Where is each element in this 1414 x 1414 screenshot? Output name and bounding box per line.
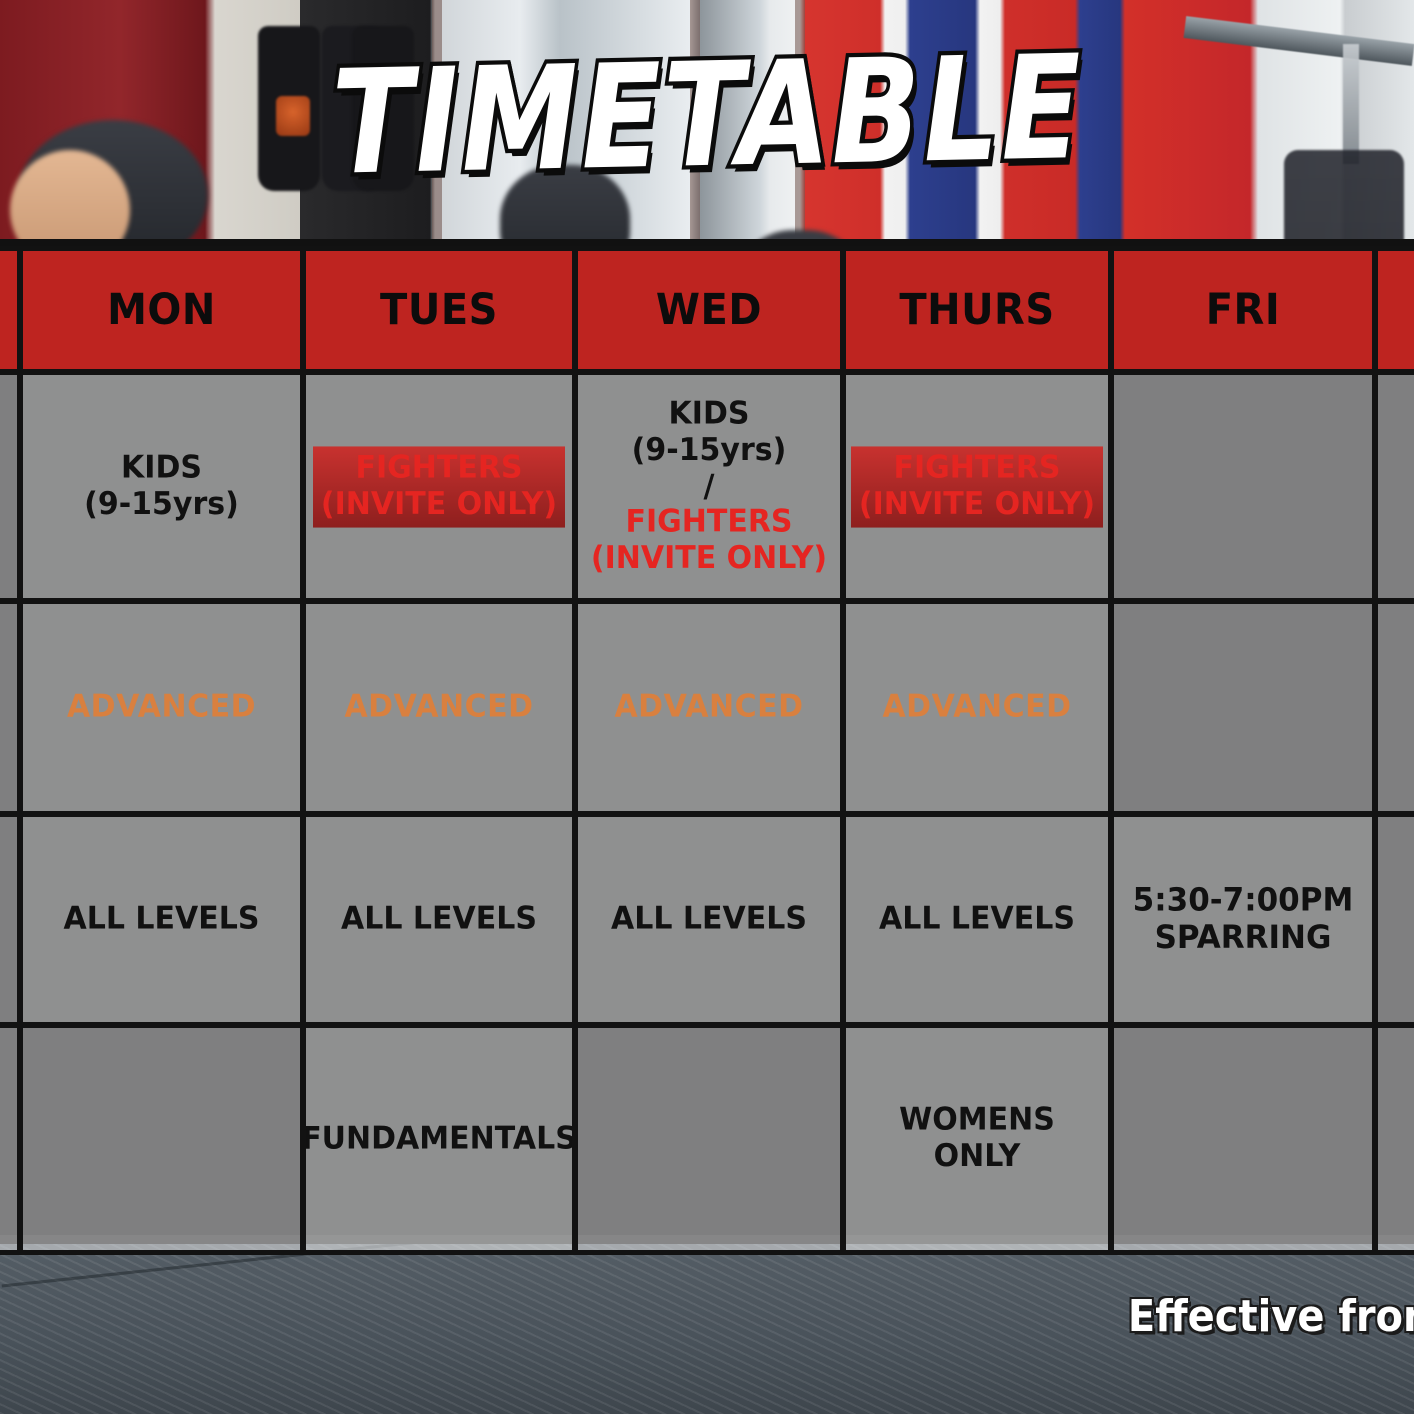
timetable-cell-thurs-row-fundamentals: WOMENS ONLY	[841, 1023, 1113, 1255]
class-label: ALL LEVELS	[603, 897, 815, 942]
class-label: FIGHTERS(INVITE ONLY)	[313, 446, 565, 527]
day-label: TUES	[380, 286, 498, 335]
timetable-cell-wed-row-advanced: ADVANCED	[573, 599, 845, 816]
window-mullion	[690, 0, 700, 250]
class-label: ADVANCED	[59, 685, 264, 730]
class-label-line: /	[591, 468, 827, 504]
class-label: WOMENS ONLY	[846, 1099, 1108, 1180]
class-label-line: KIDS	[84, 450, 239, 486]
class-label-line: ALL LEVELS	[64, 901, 260, 937]
timetable-cell-mon-row-all-levels: ALL LEVELS	[18, 812, 305, 1027]
class-label-line: 5:30-7:00PM	[1133, 882, 1354, 919]
timetable-cell-wed-row-fundamentals	[573, 1023, 845, 1255]
timetable-cell-fri-row-advanced	[1109, 599, 1377, 816]
class-label-line: FIGHTERS	[591, 505, 827, 541]
class-label-line: ADVANCED	[67, 689, 256, 725]
timetable-cell-tues-row-fundamentals: FUNDAMENTALS	[301, 1023, 577, 1255]
class-label-line: ADVANCED	[882, 689, 1071, 725]
heavy-bag-chain	[1343, 44, 1359, 164]
class-label-line: ALL LEVELS	[879, 901, 1075, 937]
day-label: THURS	[899, 286, 1054, 335]
timetable-cell-thurs-row-kids-fighters: FIGHTERS(INVITE ONLY)	[841, 370, 1113, 603]
timetable-cell-tues-row-all-levels: ALL LEVELS	[301, 812, 577, 1027]
effective-from-note: Effective from Ju	[1128, 1292, 1414, 1342]
timetable-cell-fri-row-all-levels: 5:30-7:00PMSPARRING	[1109, 812, 1377, 1027]
class-label: ADVANCED	[874, 685, 1079, 730]
hanging-shirt	[352, 26, 414, 191]
class-label: KIDS(9-15yrs)	[76, 446, 247, 527]
class-label: ADVANCED	[606, 685, 811, 730]
class-label-line: FUNDAMENTALS	[301, 1121, 577, 1157]
class-label: FIGHTERS(INVITE ONLY)	[851, 446, 1103, 527]
class-label-line: (9-15yrs)	[591, 432, 827, 468]
window-mullion	[432, 0, 442, 250]
class-label: ALL LEVELS	[56, 897, 268, 942]
timetable-cell-thurs-row-all-levels: ALL LEVELS	[841, 812, 1113, 1027]
class-label-line: ADVANCED	[344, 689, 533, 725]
timetable-cell-fri-row-fundamentals	[1109, 1023, 1377, 1255]
window-mullion	[795, 0, 805, 250]
timetable-header-sat	[1373, 246, 1414, 374]
class-label-line: (INVITE ONLY)	[321, 487, 557, 523]
class-label: ALL LEVELS	[871, 897, 1083, 942]
class-label-line: ALL LEVELS	[341, 901, 537, 937]
class-label-line: SPARRING	[1133, 920, 1354, 957]
shirt-logo	[276, 96, 310, 136]
class-label-line: ADVANCED	[614, 689, 803, 725]
timetable-cell-mon-row-kids-fighters: KIDS(9-15yrs)	[18, 370, 305, 603]
timetable-cell-wed-row-kids-fighters: KIDS(9-15yrs)/FIGHTERS(INVITE ONLY)	[573, 370, 845, 603]
class-label-line: (INVITE ONLY)	[859, 487, 1095, 523]
timetable-cell-sat-row-fundamentals	[1373, 1023, 1414, 1255]
timetable-header-thurs: THURS	[841, 246, 1113, 374]
timetable-header-wed: WED	[573, 246, 845, 374]
timetable-cell-thurs-row-advanced: ADVANCED	[841, 599, 1113, 816]
class-label: KIDS(9-15yrs)/FIGHTERS(INVITE ONLY)	[583, 392, 835, 581]
timetable-cell-fri-row-kids-fighters	[1109, 370, 1377, 603]
timetable-header-fri: FRI	[1109, 246, 1377, 374]
class-label-line: ALL LEVELS	[611, 901, 807, 937]
class-label-line: (9-15yrs)	[84, 487, 239, 523]
timetable-cell-mon-row-advanced: ADVANCED	[18, 599, 305, 816]
day-label: MON	[107, 286, 216, 335]
class-label: ADVANCED	[336, 685, 541, 730]
timetable-cell-tues-row-advanced: ADVANCED	[301, 599, 577, 816]
class-label-line: FIGHTERS	[859, 450, 1095, 486]
class-label-line: FIGHTERS	[321, 450, 557, 486]
day-label: FRI	[1206, 286, 1281, 335]
day-label: WED	[656, 286, 762, 335]
timetable-cell-wed-row-all-levels: ALL LEVELS	[573, 812, 845, 1027]
timetable-header-tues: TUES	[301, 246, 577, 374]
timetable-header-mon: MON	[18, 246, 305, 374]
class-label: ALL LEVELS	[333, 897, 545, 942]
class-label-line: WOMENS ONLY	[854, 1103, 1100, 1175]
class-label-line: (INVITE ONLY)	[591, 541, 827, 577]
timetable-cell-sat-row-advanced	[1373, 599, 1414, 816]
timetable-cell-tues-row-kids-fighters: FIGHTERS(INVITE ONLY)	[301, 370, 577, 603]
timetable-cell-sat-row-all-levels	[1373, 812, 1414, 1027]
class-label: FUNDAMENTALS	[301, 1117, 577, 1162]
timetable-cell-sat-row-kids-fighters	[1373, 370, 1414, 603]
class-label-line: KIDS	[591, 396, 827, 432]
timetable-cell-mon-row-fundamentals	[18, 1023, 305, 1255]
class-label: 5:30-7:00PMSPARRING	[1125, 878, 1362, 961]
timetable-grid: MONTUESWEDTHURSFRIKIDS(9-15yrs)FIGHTERS(…	[0, 239, 1414, 1244]
